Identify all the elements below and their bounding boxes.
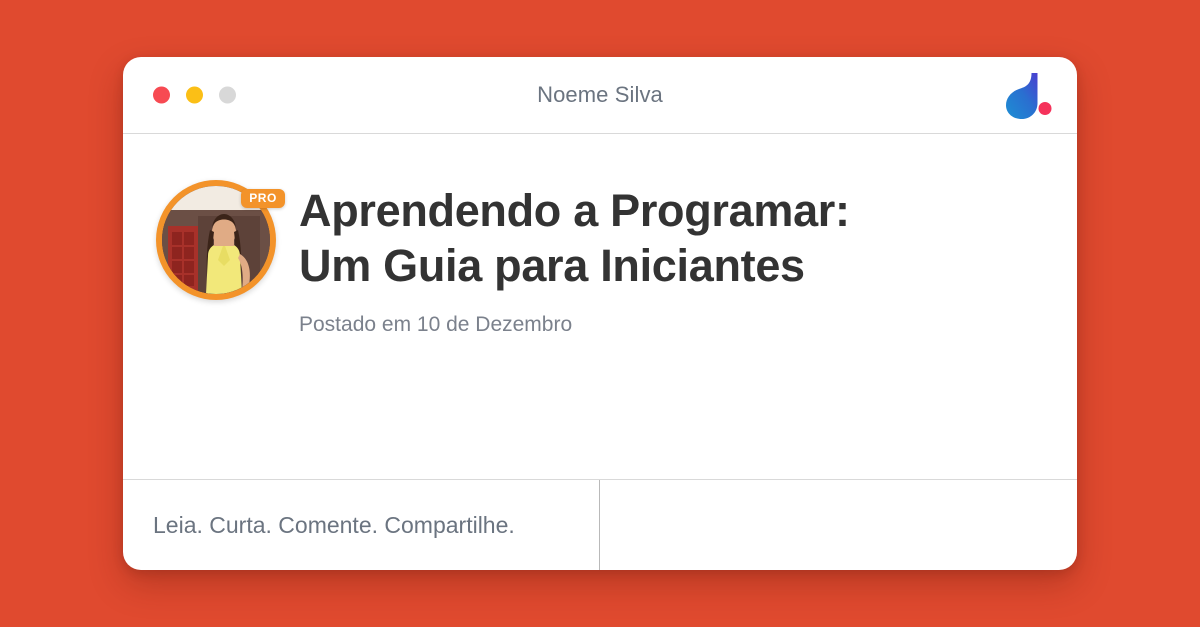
page-title: Noeme Silva: [123, 84, 1077, 106]
pro-badge: PRO: [241, 189, 285, 208]
window-titlebar: Noeme Silva: [123, 57, 1077, 134]
post-date: Postado em 10 de Dezembro: [299, 314, 850, 335]
footer-cta-text: Leia. Curta. Comente. Compartilhe.: [153, 514, 515, 537]
post-body: PRO Aprendendo a Programar: Um Guia para…: [123, 134, 1077, 479]
minimize-button-icon[interactable]: [186, 87, 203, 104]
droplet-dot-logo-icon: [999, 67, 1055, 123]
close-button-icon[interactable]: [153, 87, 170, 104]
footer-left-panel: Leia. Curta. Comente. Compartilhe.: [123, 480, 600, 570]
browser-window: Noeme Silva: [123, 57, 1077, 570]
card-footer: Leia. Curta. Comente. Compartilhe.: [123, 479, 1077, 570]
window-traffic-lights: [153, 87, 236, 104]
footer-right-panel: [600, 480, 1077, 570]
post-title: Aprendendo a Programar: Um Guia para Ini…: [299, 184, 850, 294]
zoom-button-icon[interactable]: [219, 87, 236, 104]
post-text-block: Aprendendo a Programar: Um Guia para Ini…: [299, 180, 850, 335]
avatar[interactable]: PRO: [156, 180, 276, 300]
